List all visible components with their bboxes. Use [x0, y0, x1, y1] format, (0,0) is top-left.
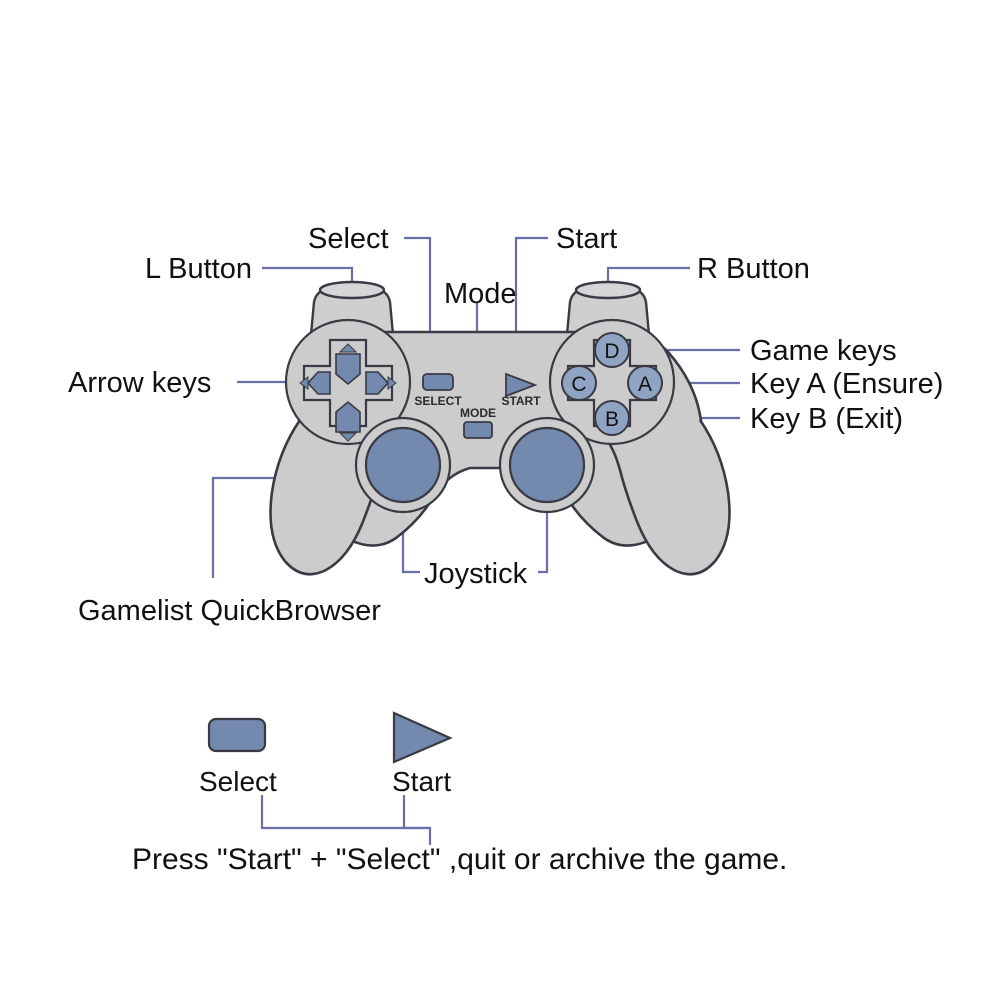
label-start: Start: [556, 223, 617, 255]
button-c-label: C: [571, 373, 586, 396]
label-mode: Mode: [444, 278, 517, 310]
select-button[interactable]: [423, 374, 453, 390]
legend-caption: Press "Start" + "Select" ,quit or archiv…: [132, 843, 787, 876]
controller-diagram-root: D C A B SELECT MODE ST: [0, 0, 1000, 1000]
l-button-cap: [320, 282, 384, 298]
button-d-label: D: [604, 340, 619, 363]
label-game-keys: Game keys: [750, 335, 897, 367]
r-button-cap: [576, 282, 640, 298]
legend-select-icon: [209, 719, 265, 751]
button-b[interactable]: B: [595, 401, 629, 435]
start-silk-label: START: [501, 394, 541, 408]
controller-body-group: D C A B SELECT MODE ST: [271, 282, 730, 574]
label-gamelist-quickbrowser: Gamelist QuickBrowser: [78, 595, 381, 627]
label-joystick: Joystick: [424, 558, 528, 590]
label-select: Select: [308, 223, 389, 255]
button-a[interactable]: A: [628, 366, 662, 400]
label-r-button: R Button: [697, 253, 810, 285]
legend-start-icon: [394, 713, 450, 762]
legend-start-label: Start: [392, 766, 451, 797]
button-d[interactable]: D: [595, 333, 629, 367]
legend: Select Start Press "Start" + "Select" ,q…: [132, 713, 787, 876]
mode-button[interactable]: [464, 422, 492, 438]
label-l-button: L Button: [145, 253, 252, 285]
button-a-label: A: [638, 373, 652, 396]
mode-silk-label: MODE: [460, 406, 496, 420]
button-b-label: B: [605, 408, 619, 431]
button-c[interactable]: C: [562, 366, 596, 400]
select-silk-label: SELECT: [414, 394, 462, 408]
label-arrow-keys: Arrow keys: [68, 367, 211, 399]
left-joystick[interactable]: [366, 428, 440, 502]
legend-select-label: Select: [199, 766, 277, 797]
right-joystick[interactable]: [510, 428, 584, 502]
gamepad-diagram: D C A B SELECT MODE ST: [0, 0, 1000, 1000]
label-key-b: Key B (Exit): [750, 403, 903, 435]
label-key-a: Key A (Ensure): [750, 368, 943, 400]
